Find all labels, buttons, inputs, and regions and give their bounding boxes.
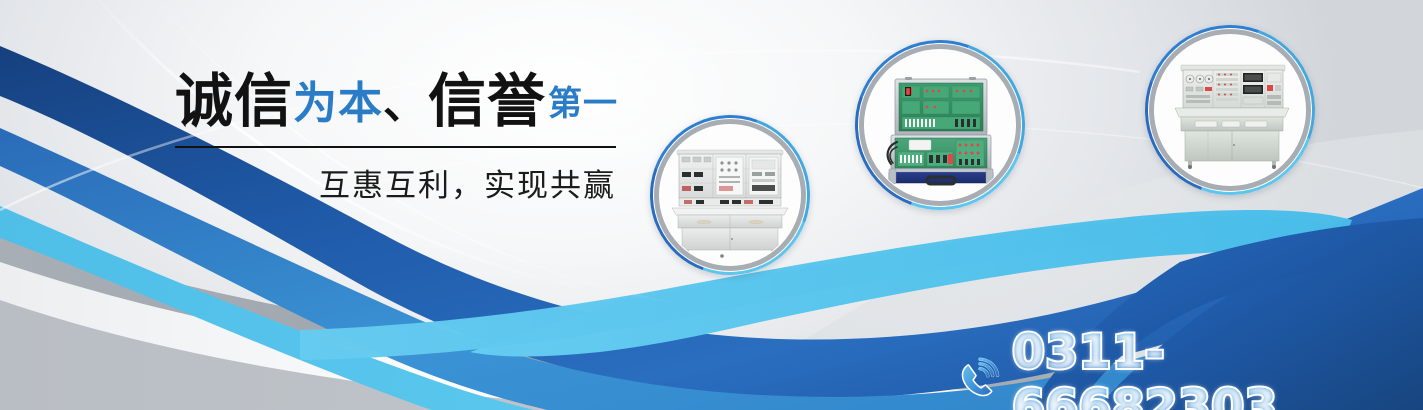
phone-number[interactable]: 0311-66682303 — [1012, 325, 1278, 410]
phone-number-wrap: 0311-66682303 0311-66682303 — [1012, 325, 1423, 410]
circle-inner-photo — [865, 50, 1015, 200]
headline-divider — [175, 146, 616, 148]
contact-block[interactable]: 0311-66682303 0311-66682303 — [955, 325, 1423, 410]
headline-part-1: 诚信 — [175, 67, 293, 135]
phone-ringing-icon — [955, 356, 1002, 404]
product-image-control-bench — [1155, 35, 1305, 185]
promo-banner: 诚信为本、信誉第一 互惠互利，实现共赢 — [0, 0, 1423, 410]
headline-part-2: 为本 — [293, 78, 383, 129]
headline-part-4: 第一 — [548, 84, 618, 124]
product-image-workbench — [660, 125, 800, 265]
product-image-briefcase-trainer — [865, 50, 1015, 200]
circle-inner-photo — [660, 125, 800, 265]
page-title: 诚信为本、信誉第一 — [175, 72, 625, 130]
subheadline: 互惠互利，实现共赢 — [175, 160, 616, 205]
headline-block: 诚信为本、信誉第一 — [175, 72, 625, 130]
headline-part-3: 信誉 — [428, 67, 546, 135]
product-circle-3[interactable] — [1145, 25, 1315, 195]
headline-punctuation: 、 — [383, 78, 428, 129]
circle-inner-photo — [1155, 35, 1305, 185]
product-circle-1[interactable] — [650, 115, 810, 275]
product-circle-2[interactable] — [855, 40, 1025, 210]
